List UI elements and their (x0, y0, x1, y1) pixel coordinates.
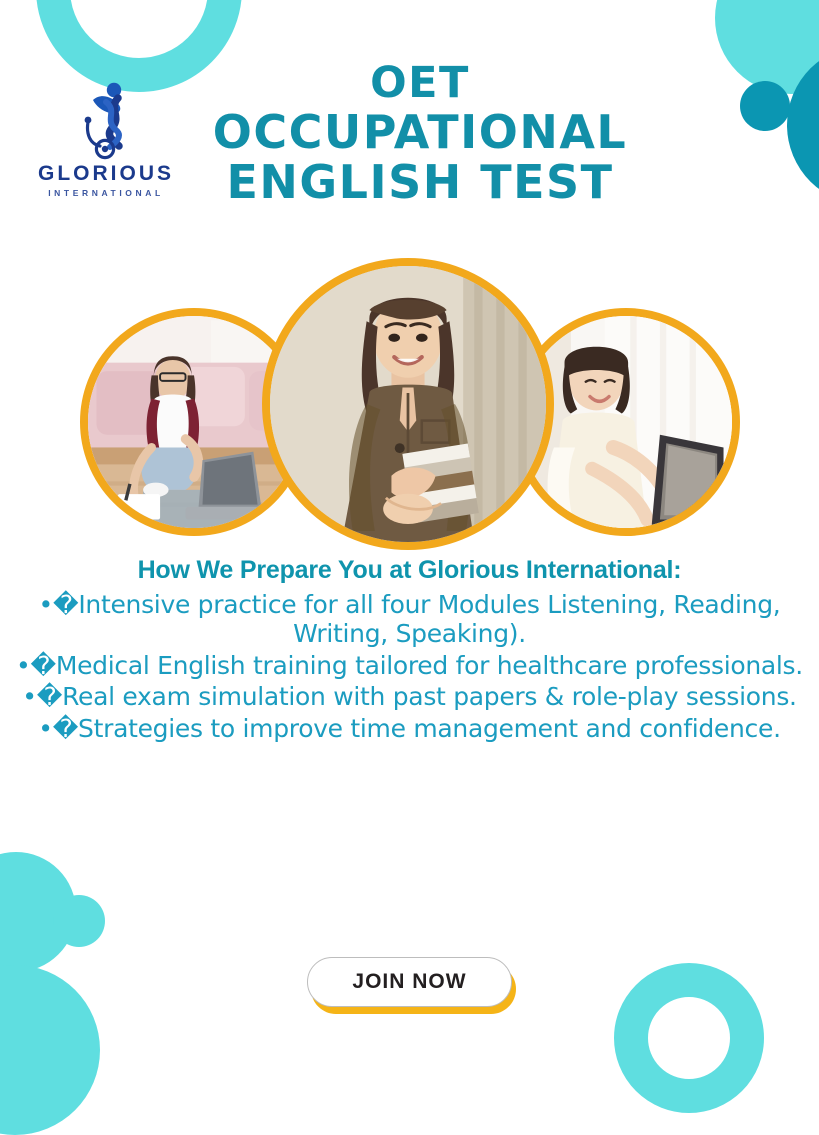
content-block: How We Prepare You at Glorious Internati… (0, 556, 819, 745)
glorious-dna-stethoscope-logo-icon (22, 78, 190, 162)
brand-name: GLORIOUS (22, 163, 190, 184)
photo-center-image (270, 266, 546, 542)
list-item: •�Real exam simulation with past papers … (14, 682, 805, 712)
title-line-3: ENGLISH TEST (190, 159, 650, 205)
photo-group (0, 248, 819, 558)
brand-tagline: INTERNATIONAL (22, 189, 190, 198)
brand-logo: GLORIOUS INTERNATIONAL (22, 78, 190, 198)
content-heading: How We Prepare You at Glorious Internati… (14, 556, 805, 585)
list-item: •�Strategies to improve time management … (14, 714, 805, 744)
photo-woman-holding-books (262, 258, 554, 550)
decorative-circle-bottom-left-large (0, 852, 76, 972)
benefits-list: •�Intensive practice for all four Module… (14, 590, 805, 744)
poster-title: OET OCCUPATIONAL ENGLISH TEST (190, 62, 650, 205)
decorative-circle-top-right-cyan (715, 0, 819, 94)
join-now-button-shadow: JOIN NOW (307, 957, 511, 1007)
decorative-circle-top-right-large (787, 45, 819, 205)
join-now-button[interactable]: JOIN NOW (307, 957, 511, 1007)
decorative-circle-top-right-small (740, 81, 790, 131)
decorative-circle-bottom-left-small (53, 895, 105, 947)
title-line-1: OET (190, 62, 650, 105)
cta-area: JOIN NOW (0, 957, 819, 1007)
list-item: •�Intensive practice for all four Module… (14, 590, 805, 649)
list-item: •�Medical English training tailored for … (14, 651, 805, 681)
title-line-2: OCCUPATIONAL (190, 109, 650, 155)
